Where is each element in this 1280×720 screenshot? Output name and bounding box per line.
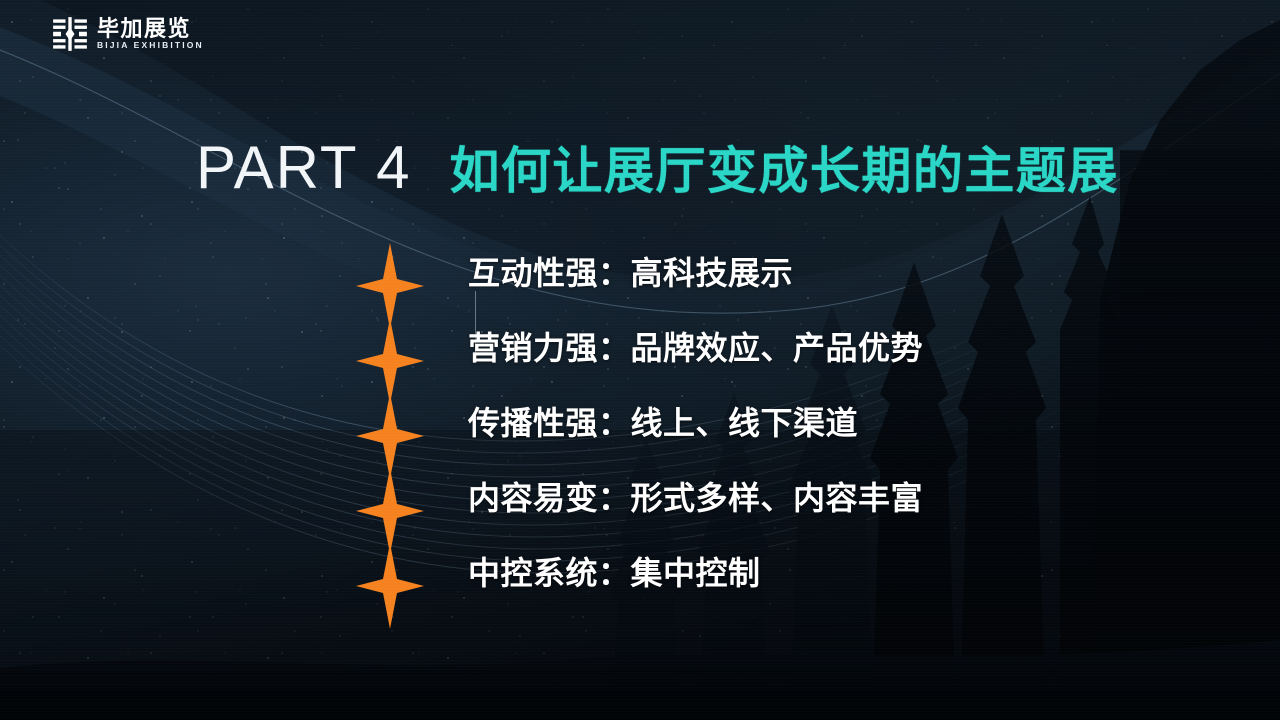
- list-item-label: 传播性强：线上、线下渠道: [468, 403, 858, 443]
- list-item-label: 中控系统：集中控制: [468, 553, 761, 593]
- four-point-star-icon: [356, 543, 424, 629]
- list-item-label: 内容易变：形式多样、内容丰富: [468, 478, 923, 518]
- list-item[interactable]: 营销力强：品牌效应、产品优势: [356, 318, 1116, 393]
- list-item[interactable]: 内容易变：形式多样、内容丰富: [356, 468, 1116, 543]
- bullet-list: 互动性强：高科技展示 营销力强：品牌效应、产品优势 传播性强：线上、线下渠道 内…: [356, 243, 1116, 618]
- list-item-label: 营销力强：品牌效应、产品优势: [468, 328, 923, 368]
- four-point-star-icon: [356, 468, 424, 554]
- list-item[interactable]: 互动性强：高科技展示: [356, 243, 1116, 318]
- list-item-label: 互动性强：高科技展示: [468, 253, 793, 293]
- logo-wordmark: 毕加展览 BIJIA EXHIBITION: [97, 18, 204, 50]
- list-item[interactable]: 中控系统：集中控制: [356, 543, 1116, 618]
- slide-canvas: 毕加展览 BIJIA EXHIBITION PART 4 如何让展厅变成长期的主…: [0, 0, 1280, 720]
- four-point-star-icon: [356, 318, 424, 404]
- four-point-star-icon: [356, 393, 424, 479]
- page-title: PART 4 如何让展厅变成长期的主题展: [196, 138, 1119, 198]
- logo-chinese-name: 毕加展览: [97, 18, 204, 40]
- list-item[interactable]: 传播性强：线上、线下渠道: [356, 393, 1116, 468]
- brand-logo[interactable]: 毕加展览 BIJIA EXHIBITION: [52, 16, 204, 52]
- logo-english-name: BIJIA EXHIBITION: [97, 41, 204, 50]
- bijia-monogram-icon: [52, 16, 88, 52]
- part-label: PART 4: [196, 138, 411, 198]
- four-point-star-icon: [356, 243, 424, 329]
- title-subtitle: 如何让展厅变成长期的主题展: [449, 146, 1119, 196]
